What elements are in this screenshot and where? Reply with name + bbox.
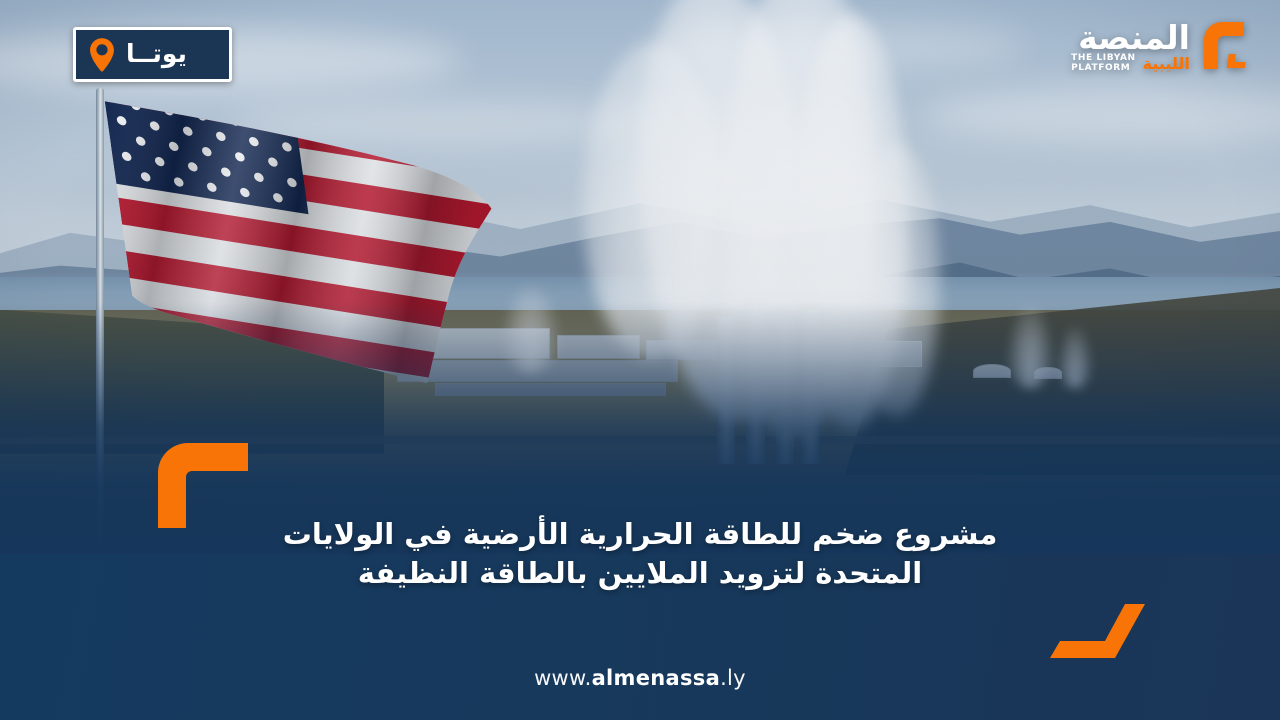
brand-logo[interactable]: المنصة THE LIBYAN PLATFORM الليبية [1071, 18, 1256, 76]
url-prefix: www. [534, 666, 591, 690]
logo-latin-text: THE LIBYAN PLATFORM [1071, 54, 1136, 73]
url-suffix: .ly [720, 666, 746, 690]
logo-arabic-sub: الليبية [1143, 56, 1190, 72]
location-label: يوتــا [126, 41, 187, 69]
logo-arabic-main: المنصة [1078, 22, 1190, 53]
logo-subline: THE LIBYAN PLATFORM الليبية [1071, 54, 1190, 73]
headline: مشروع ضخم للطاقة الحرارية الأرضية في الو… [0, 515, 1280, 593]
logo-latin-line2: PLATFORM [1071, 63, 1130, 73]
map-pin-icon [88, 37, 116, 73]
footer-url[interactable]: www.almenassa.ly [0, 666, 1280, 690]
orange-hook-mark-icon [1194, 18, 1256, 76]
orange-angle-bracket-decor [1042, 604, 1157, 662]
news-card: يوتــا المنصة THE LIBYAN PLATFORM الليبي… [0, 0, 1280, 720]
location-badge[interactable]: يوتــا [73, 27, 232, 82]
logo-wordmark: المنصة THE LIBYAN PLATFORM الليبية [1071, 18, 1190, 73]
url-name: almenassa [592, 666, 721, 690]
